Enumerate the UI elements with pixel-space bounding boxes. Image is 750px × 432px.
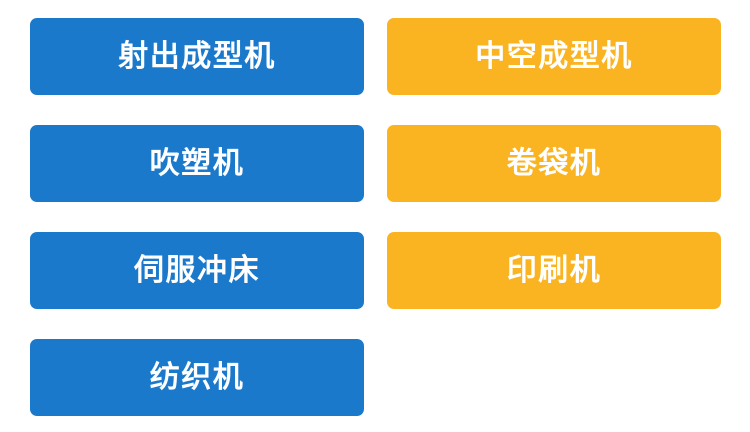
machine-button-servo-punch-press[interactable]: 伺服冲床 xyxy=(30,232,364,309)
machine-button-label: 射出成型机 xyxy=(118,42,276,72)
machine-button-bag-rolling-machine[interactable]: 卷袋机 xyxy=(387,125,721,202)
right-column: 中空成型机 卷袋机 印刷机 xyxy=(387,18,721,416)
machine-button-label: 卷袋机 xyxy=(507,149,602,179)
machine-button-label: 印刷机 xyxy=(507,256,602,286)
machine-button-printing-machine[interactable]: 印刷机 xyxy=(387,232,721,309)
machine-button-label: 吹塑机 xyxy=(150,149,245,179)
machine-button-label: 纺织机 xyxy=(150,363,245,393)
machine-button-textile-machine[interactable]: 纺织机 xyxy=(30,339,364,416)
machine-button-label: 中空成型机 xyxy=(475,42,633,72)
machine-button-blow-molding-machine[interactable]: 吹塑机 xyxy=(30,125,364,202)
machine-button-hollow-blow-molding-machine[interactable]: 中空成型机 xyxy=(387,18,721,95)
left-column: 射出成型机 吹塑机 伺服冲床 纺织机 xyxy=(30,18,364,416)
machine-type-button-grid: 射出成型机 吹塑机 伺服冲床 纺织机 中空成型机 卷袋机 印刷机 xyxy=(0,0,750,432)
machine-button-injection-molding-machine[interactable]: 射出成型机 xyxy=(30,18,364,95)
machine-button-label: 伺服冲床 xyxy=(134,256,260,286)
